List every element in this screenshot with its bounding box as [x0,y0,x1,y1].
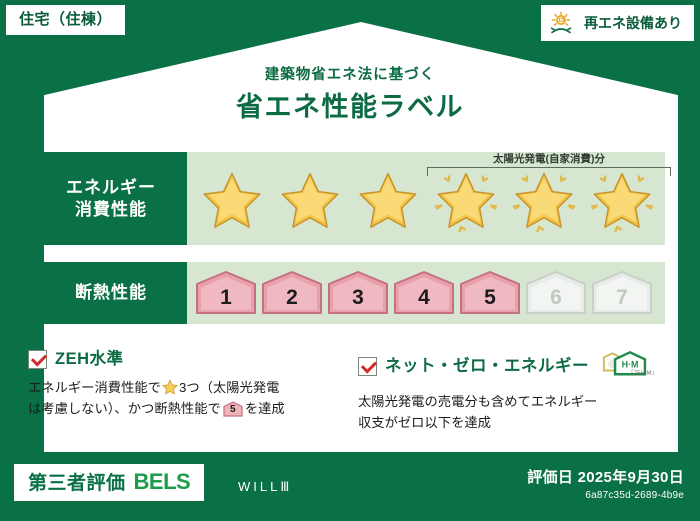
insulation-level-group: 1 2 3 4 5 6 7 [187,262,654,324]
bels-certification-tag: 第三者評価 BELS [14,464,204,501]
net-zero-text-a: 太陽光発電の売電分も含めてエネルギー [358,394,597,409]
insulation-level-number: 2 [286,278,298,308]
energy-performance-label: 住宅（住棟） 再エネ設備あり 建築物省エネ法に基づ [0,0,700,521]
bels-jp-text: 第三者評価 [28,474,126,493]
insulation-level-4: 4 [392,270,456,316]
star-icon-inline [162,379,178,395]
insulation-level-number: 3 [352,278,364,308]
label-subtitle: 建築物省エネ法に基づく [0,63,700,84]
insulation-house-inline-number: 5 [223,401,243,417]
will-mark: WILLⅢ [238,480,292,493]
evaluation-date: 評価日 2025年9月30日 [527,470,684,487]
insulation-level-2: 2 [260,270,324,316]
label-title: 省エネ性能ラベル [0,85,700,124]
star-3 [351,162,424,236]
check-icon-net-zero [358,357,377,376]
net-zero-heading: ネット・ゼロ・エネルギー H·M 「ZEH-M」 [358,350,672,383]
solar-self-consumption-annotation: 太陽光発電(自家消費)分 [427,154,671,176]
insulation-label-text: 断熱性能 [75,282,147,303]
insulation-level-number: 5 [484,278,496,308]
insulation-level-7: 7 [590,270,654,316]
solar-sun-icon [550,11,576,35]
insulation-level-3: 3 [326,270,390,316]
energy-performance-row: エネルギー 消費性能 太陽光発電(自家消費)分 [35,152,665,245]
insulation-level-6: 6 [524,270,588,316]
category-tag: 住宅（住棟） [6,5,125,35]
net-zero-text-b: 収支がゼロ以下を達成 [358,415,491,430]
zeh-title: ZEH水準 [55,351,124,368]
criterion-net-zero-energy: ネット・ゼロ・エネルギー H·M 「ZEH-M」 太陽光発電の売電分も含めてエネ… [358,350,672,433]
net-zero-title: ネット・ゼロ・エネルギー [385,358,589,375]
check-icon-zeh [28,350,47,369]
energy-label-line1: エネルギー [66,177,156,198]
svg-text:H·M: H·M [622,360,639,370]
energy-performance-label-box: エネルギー 消費性能 [35,152,187,245]
star-2 [273,162,346,236]
evaluation-info: 評価日 2025年9月30日 6a87c35d-2689-4b9e [527,470,684,503]
solar-annotation-bracket [427,167,671,176]
net-zero-description: 太陽光発電の売電分も含めてエネルギー 収支がゼロ以下を達成 [358,392,672,433]
insulation-level-number: 1 [220,278,232,308]
insulation-performance-label-box: 断熱性能 [35,262,187,324]
evaluation-id: 6a87c35d-2689-4b9e [527,489,684,503]
energy-label-line2: 消費性能 [75,199,147,220]
criterion-zeh: ZEH水準 エネルギー消費性能で 3つ（太陽光発電 は考慮しない）、かつ断熱性能… [28,350,342,433]
solar-annotation-caption: 太陽光発電(自家消費)分 [427,154,671,165]
star-1 [195,162,268,236]
renewable-equipment-badge: 再エネ設備あり [541,5,694,41]
insulation-level-number: 4 [418,278,430,308]
insulation-scale-area: 1 2 3 4 5 6 7 [187,262,665,324]
zeh-heading: ZEH水準 [28,350,342,369]
zeh-text-a: エネルギー消費性能で [28,380,161,395]
bels-en-text: BELS [134,471,191,493]
insulation-level-number: 7 [616,278,628,308]
zeh-m-logo-icon: H·M 「ZEH-M」 [599,350,661,383]
insulation-performance-row: 断熱性能 1 2 3 4 5 6 7 [35,262,665,324]
label-footer: 第三者評価 BELS WILLⅢ 評価日 2025年9月30日 6a87c35d… [0,452,700,521]
energy-stars-area: 太陽光発電(自家消費)分 [187,152,665,245]
zeh-text-d: を達成 [245,401,285,416]
insulation-level-1: 1 [194,270,258,316]
zeh-text-c: は考慮しない）、かつ断熱性能で [28,401,221,416]
svg-text:「ZEH-M」: 「ZEH-M」 [628,369,657,376]
criteria-section: ZEH水準 エネルギー消費性能で 3つ（太陽光発電 は考慮しない）、かつ断熱性能… [0,350,700,433]
insulation-house-icon-inline: 5 [223,401,243,417]
renewable-badge-label: 再エネ設備あり [584,16,682,30]
zeh-description: エネルギー消費性能で 3つ（太陽光発電 は考慮しない）、かつ断熱性能で 5 を達… [28,378,342,419]
insulation-level-number: 6 [550,278,562,308]
zeh-text-b: 3つ（太陽光発電 [179,380,279,395]
insulation-level-5: 5 [458,270,522,316]
